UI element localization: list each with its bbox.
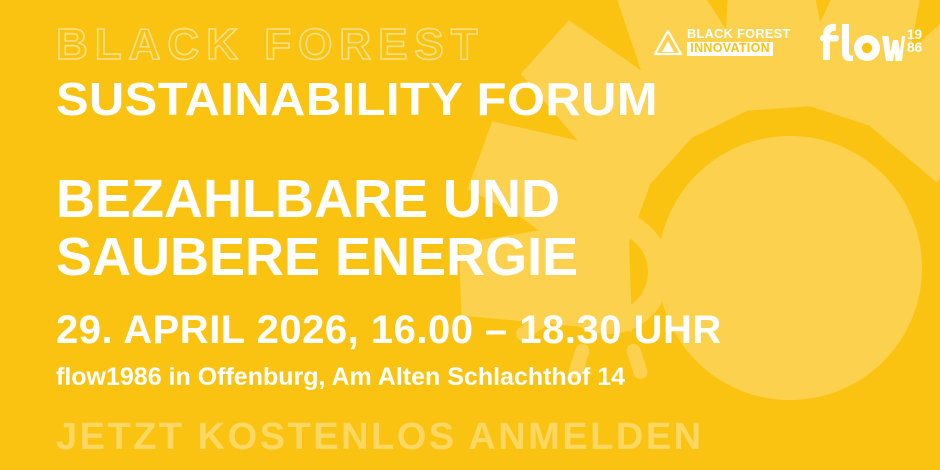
- flow1986-logo[interactable]: 19 86: [819, 22, 922, 62]
- logo-row: BLACK FOREST INNOVATION 19 86: [653, 22, 922, 62]
- headline-line-1: BEZAHLBARE UND: [56, 172, 560, 226]
- triangle-mountain-icon: [653, 27, 683, 57]
- flow-year-bottom: 86: [907, 41, 922, 54]
- register-cta[interactable]: JETZT KOSTENLOS ANMELDEN: [56, 418, 704, 456]
- event-venue: flow1986 in Offenburg, Am Alten Schlacht…: [56, 365, 625, 390]
- headline-line-2: SAUBERE ENERGIE: [56, 230, 578, 284]
- kicker-outline-black-forest: BLACK FOREST: [56, 23, 485, 67]
- event-date-time: 29. APRIL 2026, 16.00 – 18.30 UHR: [56, 310, 722, 350]
- event-poster: BLACK FOREST INNOVATION 19 86: [0, 0, 940, 470]
- black-forest-innovation-logo[interactable]: BLACK FOREST INNOVATION: [653, 27, 789, 57]
- flow-year: 19 86: [907, 28, 922, 54]
- flow-wordmark-icon: [819, 22, 905, 62]
- kicker-sustainability-forum: SUSTAINABILITY FORUM: [56, 76, 658, 122]
- bfi-wordmark: BLACK FOREST INNOVATION: [687, 28, 789, 57]
- poster-text-block: BLACK FOREST SUSTAINABILITY FORUM BEZAHL…: [56, 0, 940, 470]
- bfi-line-1: BLACK FOREST: [687, 28, 791, 41]
- bfi-line-2: INNOVATION: [687, 42, 773, 57]
